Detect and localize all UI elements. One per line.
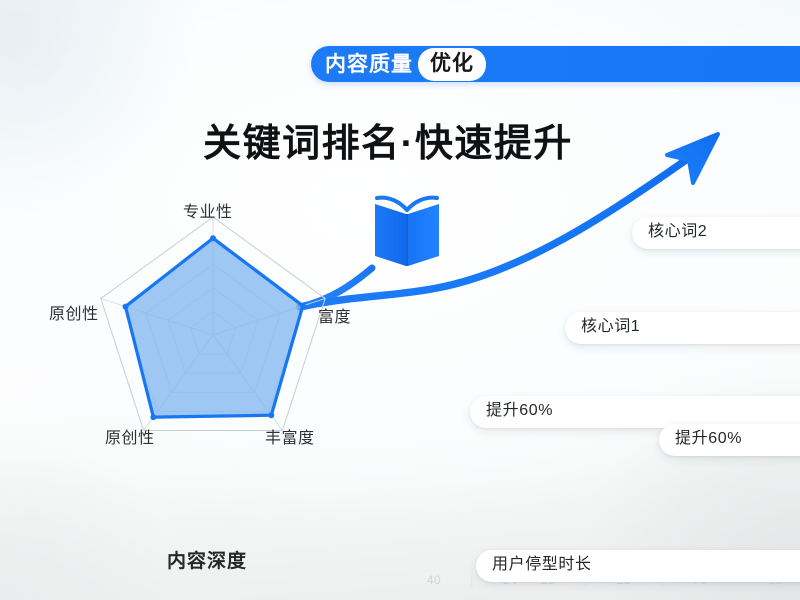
- tick-value: 40: [415, 574, 453, 586]
- quality-badge-pill: 优化: [418, 48, 486, 81]
- chip-dwell-time[interactable]: 用户停型时长: [476, 550, 800, 582]
- radar-axis-label-bottom-left: 原创性: [105, 424, 155, 448]
- chip-core-keyword-1[interactable]: 核心词1: [565, 312, 800, 344]
- radar-axis-label-bottom-right: 丰富度: [265, 424, 315, 448]
- chip-uplift-right[interactable]: 提升60%: [659, 424, 800, 456]
- page-title: 关键词排名·快速提升: [0, 124, 800, 166]
- radar-axis-label-right: 富度: [318, 303, 351, 327]
- radar-chart: 专业性 富度 丰富度 原创性 原创性: [35, 190, 405, 460]
- quality-badge[interactable]: 内容质量 优化: [311, 46, 800, 82]
- poster-canvas: 内容质量 优化 关键词排名·快速提升: [0, 0, 800, 600]
- radar-axis-label-left: 原创性: [49, 300, 99, 324]
- radar-series-polygon: [126, 238, 303, 417]
- page-title-text: 关键词排名·快速提升: [203, 124, 573, 166]
- chip-core-keyword-2[interactable]: 核心词2: [632, 217, 800, 249]
- quality-badge-label: 内容质量: [325, 54, 413, 75]
- radar-axis-label-top: 专业性: [183, 198, 233, 222]
- chip-uplift-left[interactable]: 提升60%: [470, 396, 800, 428]
